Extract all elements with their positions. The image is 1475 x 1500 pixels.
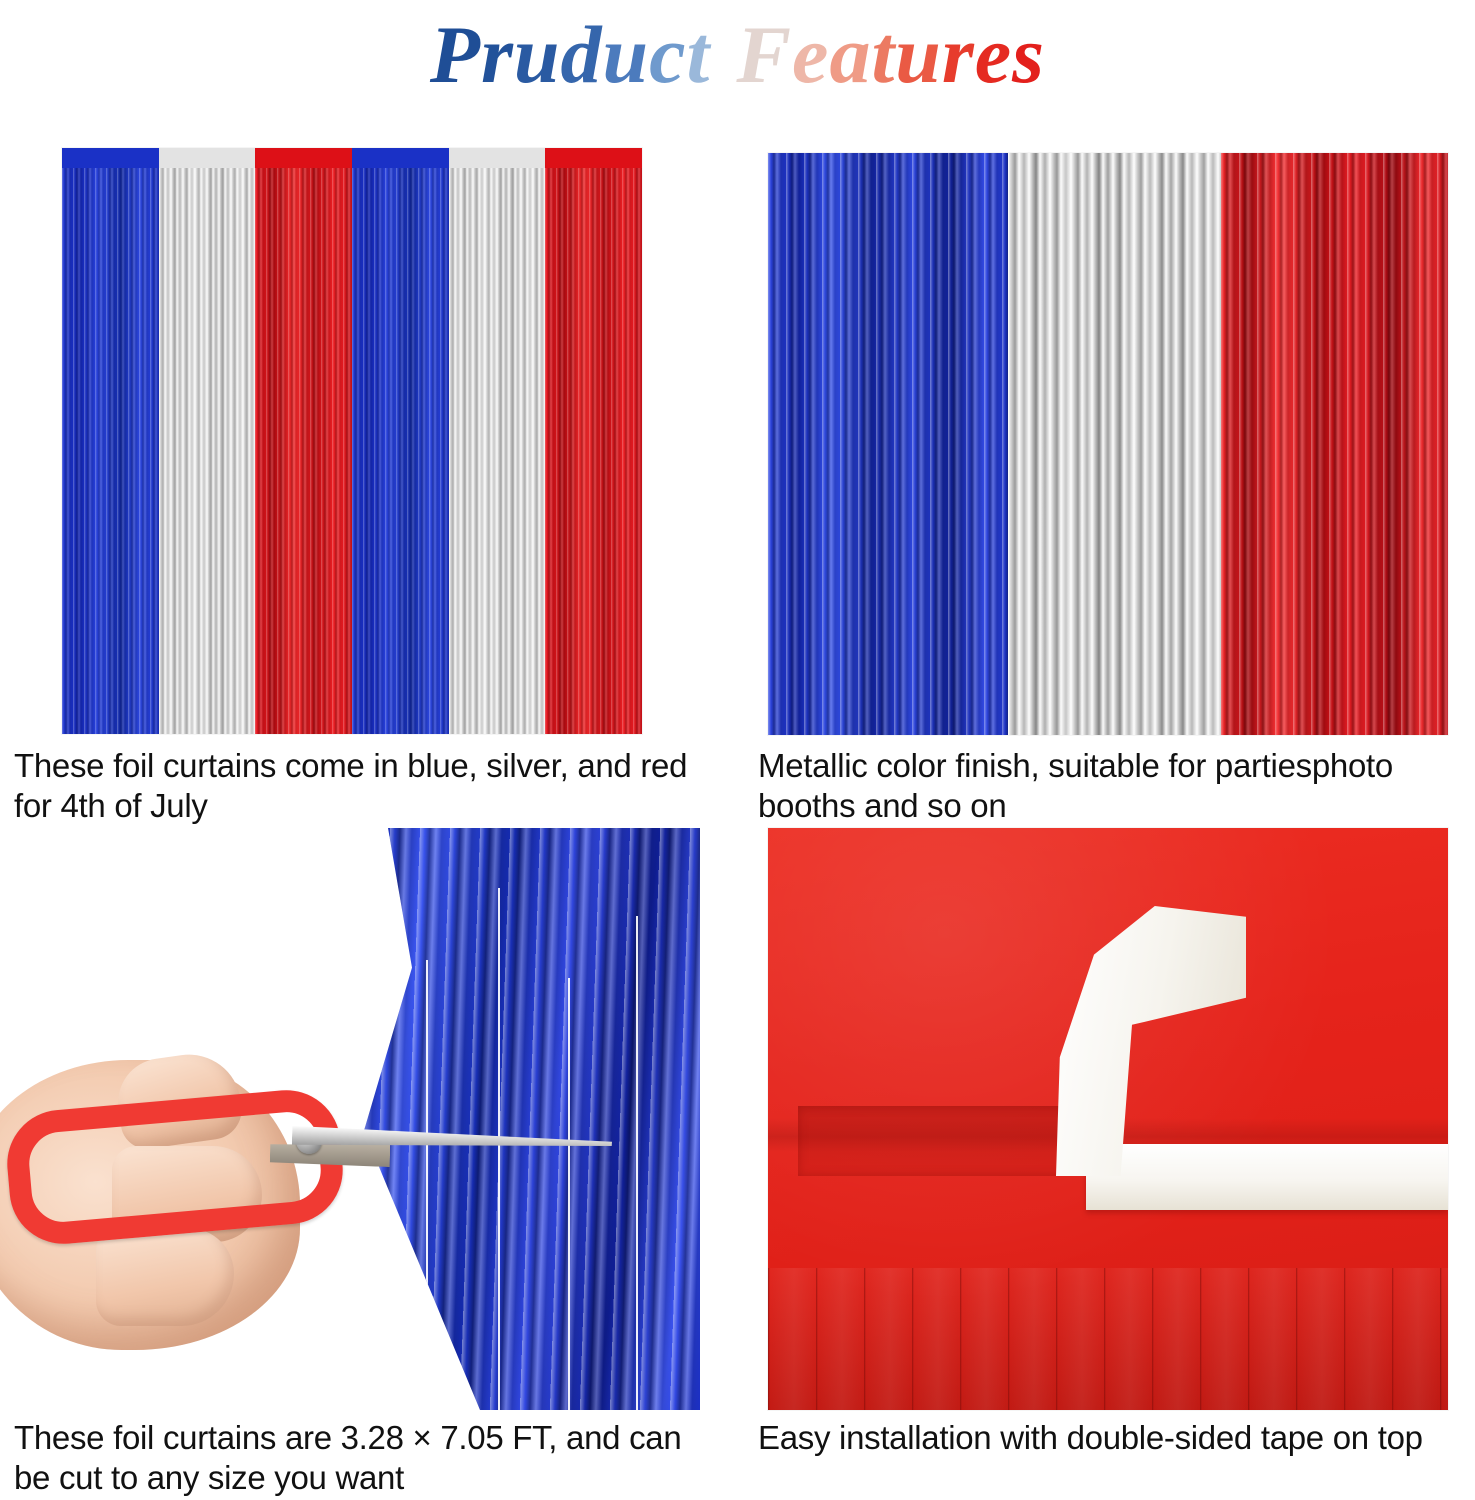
title-letter: F <box>736 14 792 96</box>
stripe-header-band <box>159 148 256 170</box>
foil-slit <box>498 888 500 1410</box>
tape-strip-flat <box>1086 1144 1448 1210</box>
title-letter: c <box>649 14 686 96</box>
foil-slit <box>636 916 638 1410</box>
stripe-blue-1 <box>62 148 159 734</box>
feature-image-install <box>768 828 1448 1410</box>
title-word-features: Features <box>736 9 1045 100</box>
title-letter: t <box>871 14 895 96</box>
stripe-header-band <box>255 148 352 170</box>
stripe-red-2 <box>545 148 642 734</box>
foil-slit <box>568 978 570 1410</box>
title-letter: e <box>975 14 1012 96</box>
title-letter: P <box>430 14 481 96</box>
stripe-fringe <box>62 168 159 734</box>
stripe-fringe <box>159 168 256 734</box>
title-letter: u <box>514 14 561 96</box>
feature-caption-install: Easy installation with double-sided tape… <box>758 1418 1470 1458</box>
foil-curtain-closeup <box>768 153 1448 735</box>
stripe-fringe <box>255 168 352 734</box>
page-title-bar: PruductFeatures <box>0 0 1475 110</box>
stripe-fringe <box>449 168 546 734</box>
foil-curtain-six-stripe <box>62 148 642 734</box>
title-letter: e <box>792 14 829 96</box>
feature-image-size <box>0 828 700 1410</box>
stripe-red-1 <box>255 148 352 734</box>
title-letter: r <box>942 14 975 96</box>
stripe-silver-2 <box>449 148 546 734</box>
stripe-header-band <box>62 148 159 170</box>
title-letter: s <box>1012 14 1045 96</box>
title-letter: u <box>895 14 942 96</box>
title-letter: u <box>603 14 650 96</box>
features-grid: These foil curtains come in blue, silver… <box>0 110 1475 1500</box>
feature-caption-size: These foil curtains are 3.28 × 7.05 FT, … <box>14 1418 714 1499</box>
tape-adhered-section <box>798 1106 1088 1176</box>
closeup-stripe-blue <box>768 153 1008 735</box>
title-letter: a <box>829 14 871 96</box>
stripe-header-band <box>449 148 546 170</box>
foil-sheen <box>1221 153 1448 735</box>
foil-sheen <box>768 153 1008 735</box>
stripe-silver-1 <box>159 148 256 734</box>
page-title: PruductFeatures <box>430 14 1045 96</box>
title-letter: d <box>561 14 603 96</box>
feature-caption-colors: These foil curtains come in blue, silver… <box>14 746 714 827</box>
feature-caption-metallic: Metallic color finish, suitable for part… <box>758 746 1470 827</box>
finger-ring <box>96 1228 234 1326</box>
title-word-pruduct: Pruduct <box>430 9 710 100</box>
foil-sheen <box>1008 153 1221 735</box>
stripe-blue-2 <box>352 148 449 734</box>
title-letter: t <box>687 14 711 96</box>
red-fringe-strands <box>768 1268 1448 1410</box>
closeup-stripe-red <box>1221 153 1448 735</box>
feature-image-metallic <box>768 153 1448 735</box>
stripe-fringe <box>352 168 449 734</box>
closeup-stripe-silver <box>1008 153 1221 735</box>
feature-image-colors <box>62 148 642 734</box>
stripe-header-band <box>545 148 642 170</box>
title-letter: r <box>481 14 514 96</box>
stripe-fringe <box>545 168 642 734</box>
stripe-header-band <box>352 148 449 170</box>
